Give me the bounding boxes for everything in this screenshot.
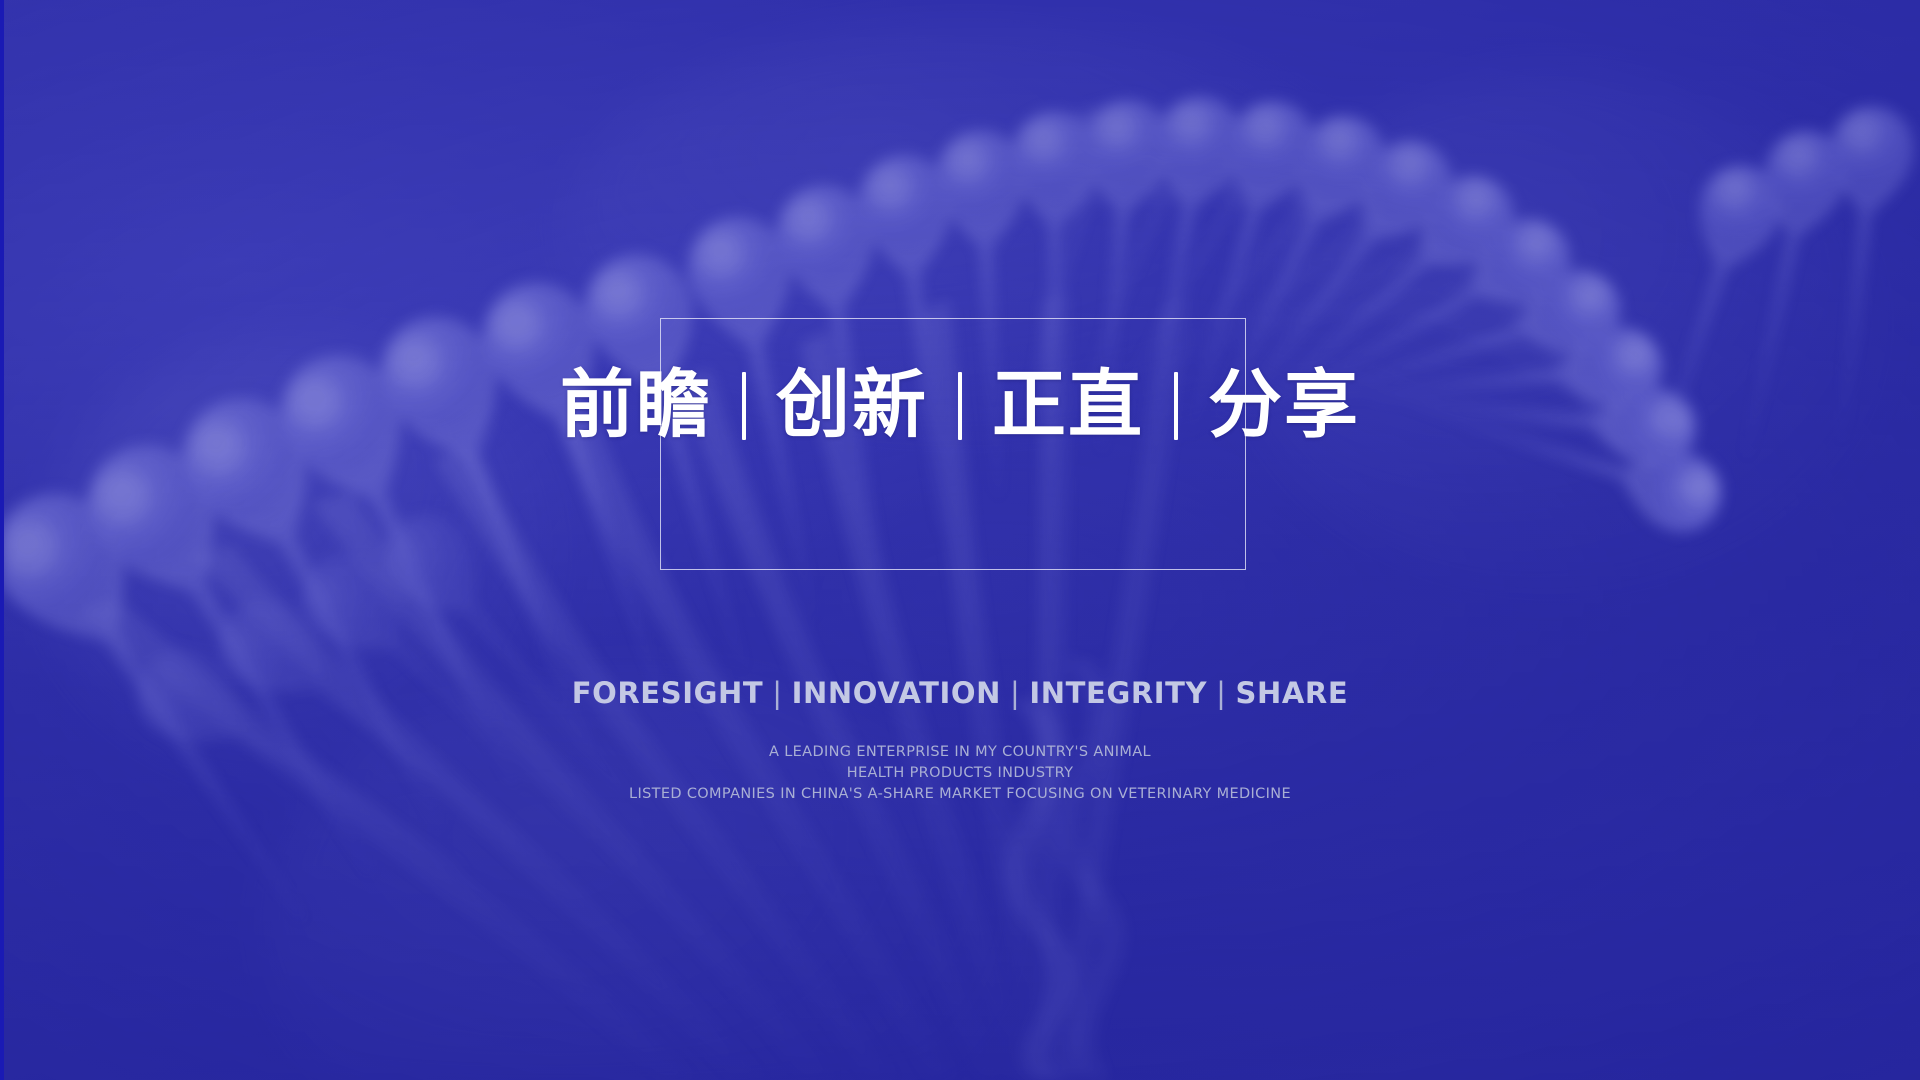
page-title: 前瞻创新正直分享 [0,368,1920,442]
headline-word-4: 分享 [1208,368,1360,442]
en-separator-2: | [1010,679,1020,708]
left-edge-strip [0,0,4,1080]
headline-separator-3 [1174,372,1178,440]
headline-separator-2 [958,372,962,440]
en-value-3: INTEGRITY [1029,676,1207,710]
description-line-1: A LEADING ENTERPRISE IN MY COUNTRY'S ANI… [0,742,1920,763]
company-description: A LEADING ENTERPRISE IN MY COUNTRY'S ANI… [0,742,1920,805]
slide-content: 前瞻创新正直分享 FORESIGHT|INNOVATION|INTEGRITY|… [0,0,1920,1080]
en-value-1: FORESIGHT [572,676,764,710]
en-separator-3: | [1216,679,1226,708]
headline-frame [660,318,1246,570]
en-value-2: INNOVATION [792,676,1001,710]
english-values-line: FORESIGHT|INNOVATION|INTEGRITY|SHARE [0,679,1920,708]
headline-word-2: 创新 [776,368,928,442]
values-slide: 前瞻创新正直分享 FORESIGHT|INNOVATION|INTEGRITY|… [0,0,1920,1080]
description-line-2: HEALTH PRODUCTS INDUSTRY [0,763,1920,784]
headline-word-3: 正直 [992,368,1144,442]
headline-word-1: 前瞻 [560,368,712,442]
headline-separator-1 [742,372,746,440]
en-value-4: SHARE [1236,676,1349,710]
description-line-3: LISTED COMPANIES IN CHINA'S A-SHARE MARK… [0,784,1920,805]
en-separator-1: | [772,679,782,708]
